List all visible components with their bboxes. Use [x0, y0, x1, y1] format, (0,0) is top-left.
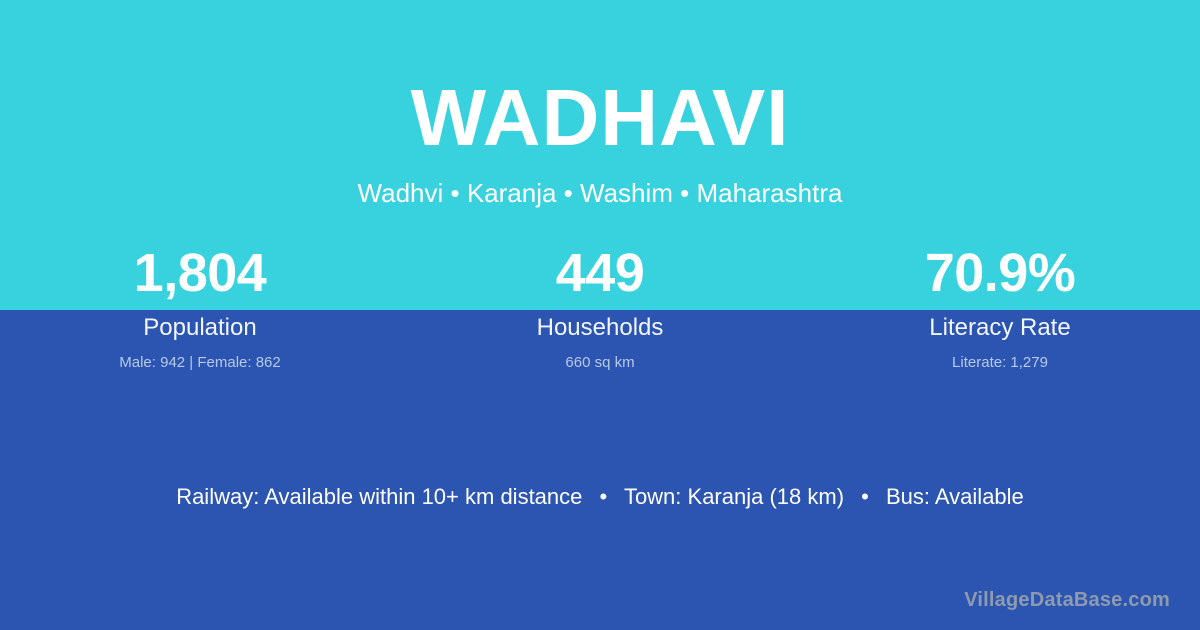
info-separator: •: [861, 486, 869, 508]
stat-value: 449: [400, 246, 800, 300]
village-info-card: WADHAVI Wadhvi • Karanja • Washim • Maha…: [0, 0, 1200, 630]
stat-label: Population: [0, 316, 400, 340]
stat-label: Literacy Rate: [800, 316, 1200, 340]
info-separator: •: [600, 486, 608, 508]
stat-households: 449 Households 660 sq km: [400, 246, 800, 370]
card-header: WADHAVI Wadhvi • Karanja • Washim • Maha…: [0, 0, 1200, 206]
stats-row: 1,804 Population Male: 942 | Female: 862…: [0, 246, 1200, 370]
stat-literacy-rate: 70.9% Literacy Rate Literate: 1,279: [800, 246, 1200, 370]
stat-value: 1,804: [0, 246, 400, 300]
stat-sublabel: 660 sq km: [400, 355, 800, 370]
stat-sublabel: Male: 942 | Female: 862: [0, 355, 400, 370]
stat-sublabel: Literate: 1,279: [800, 355, 1200, 370]
info-railway: Railway: Available within 10+ km distanc…: [176, 484, 582, 509]
breadcrumb: Wadhvi • Karanja • Washim • Maharashtra: [0, 180, 1200, 206]
stat-label: Households: [400, 316, 800, 340]
stat-population: 1,804 Population Male: 942 | Female: 862: [0, 246, 400, 370]
info-town: Town: Karanja (18 km): [624, 484, 844, 509]
stat-value: 70.9%: [800, 246, 1200, 300]
page-title: WADHAVI: [0, 78, 1200, 158]
connectivity-info-line: Railway: Available within 10+ km distanc…: [0, 486, 1200, 508]
info-bus: Bus: Available: [886, 484, 1024, 509]
site-brand-watermark: VillageDataBase.com: [964, 590, 1170, 610]
